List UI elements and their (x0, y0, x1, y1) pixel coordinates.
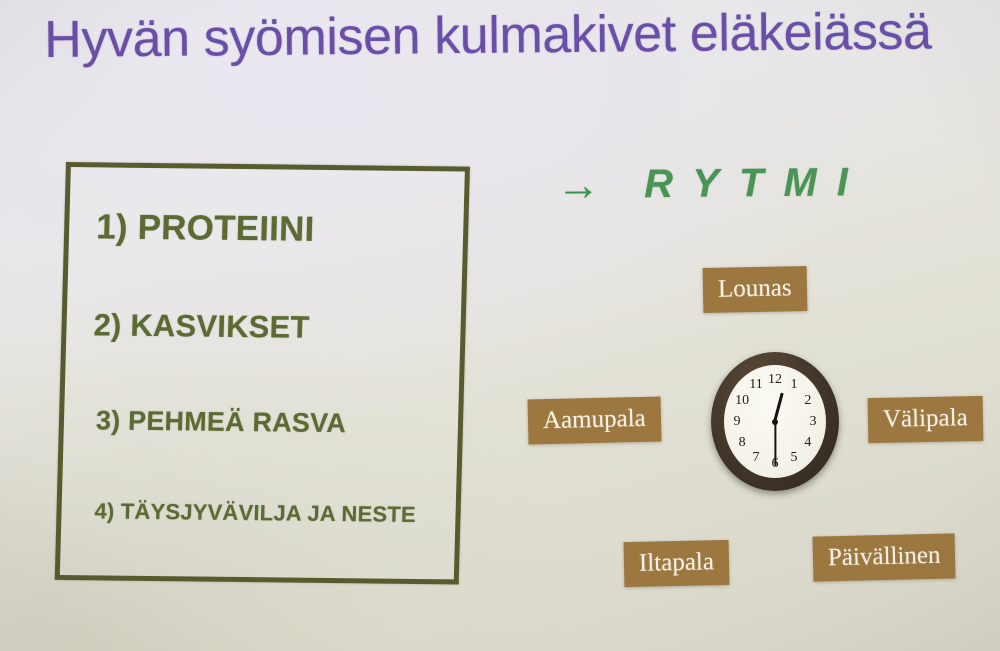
slide-photo: Hyvän syömisen kulmakivet eläkeiässä 1) … (0, 0, 1000, 651)
clock-numeral: 7 (753, 451, 760, 465)
clock-numeral: 1 (791, 378, 798, 392)
clock-numeral: 11 (749, 378, 762, 392)
clock-numeral: 8 (739, 436, 746, 450)
cornerstones-box: 1) PROTEIINI 2) KASVIKSET 3) PEHMEÄ RASV… (55, 162, 470, 584)
clock-minute-hand (774, 422, 776, 466)
clock-center-cap (772, 419, 778, 425)
cornerstones-list: 1) PROTEIINI 2) KASVIKSET 3) PEHMEÄ RASV… (60, 167, 465, 579)
clock-numeral: 5 (791, 451, 798, 465)
rhythm-heading: → RYTMI (556, 160, 868, 208)
clock-numeral: 10 (735, 394, 749, 408)
meal-label-paivallinen: Päivällinen (813, 533, 956, 581)
meal-label-aamupala: Aamupala (528, 397, 662, 445)
clock-numeral: 3 (810, 415, 817, 429)
rhythm-heading-label: RYTMI (644, 160, 868, 207)
clock-numeral: 12 (768, 373, 782, 387)
clock-numeral: 2 (804, 394, 811, 408)
slide-content: Hyvän syömisen kulmakivet eläkeiässä 1) … (0, 0, 1000, 651)
list-item: 2) KASVIKSET (93, 307, 451, 347)
clock-numeral: 4 (804, 436, 811, 450)
list-item: 4) TÄYSJYVÄVILJA JA NESTE (94, 498, 446, 528)
meal-label-iltapala: Iltapala (624, 540, 730, 587)
meal-label-lounas: Lounas (703, 266, 807, 313)
page-title: Hyvän syömisen kulmakivet eläkeiässä (44, 4, 964, 68)
clock-icon: 123456789101112 (711, 352, 839, 491)
clock-numeral: 9 (734, 415, 741, 429)
list-item: 3) PEHMEÄ RASVA (96, 405, 449, 440)
list-item: 1) PROTEIINI (96, 207, 454, 251)
clock-hour-hand (773, 392, 784, 422)
arrow-right-icon: → (556, 163, 600, 207)
meal-label-valipala: Välipala (868, 396, 984, 443)
clock-face: 123456789101112 (724, 365, 826, 478)
